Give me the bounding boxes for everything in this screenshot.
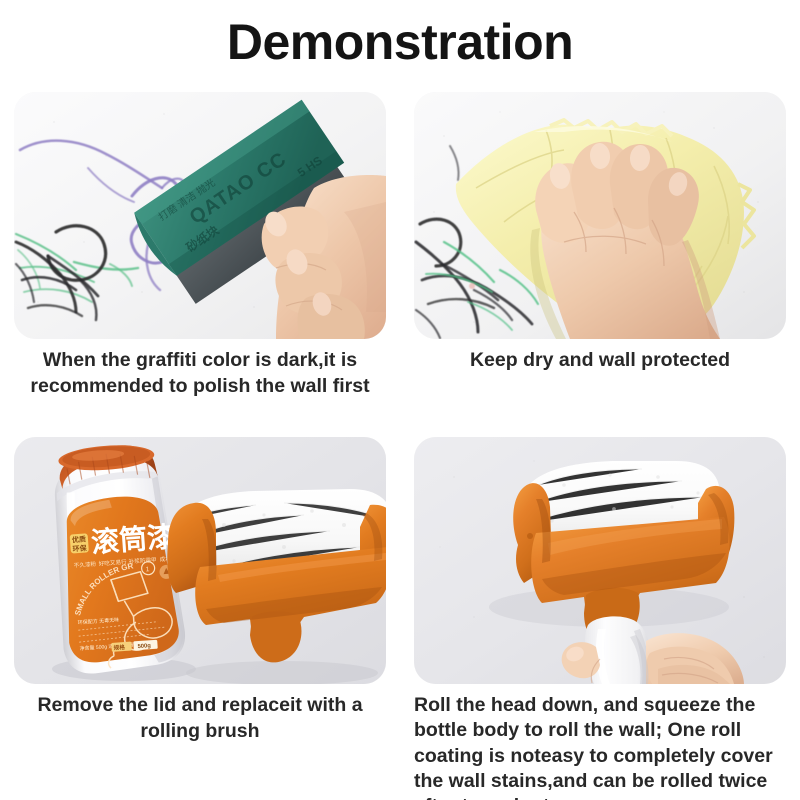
photo-paint-bottle-and-roller-head: 优质 环保 滚筒漆 不久漆粉 好吃又易行 补浆防霜甲 成本低倒省	[14, 437, 386, 684]
panel-roll-wall: Roll the head down, and squeeze the bott…	[400, 400, 800, 800]
page-title: Demonstration	[0, 0, 800, 67]
demonstration-grid: QATAO CC 5 HS 砂纸块 打磨 清洁 抛光	[0, 92, 800, 800]
panel-caption: Remove the lid and replaceit with a roll…	[14, 693, 386, 745]
panel-sand-wall: QATAO CC 5 HS 砂纸块 打磨 清洁 抛光	[0, 92, 400, 400]
svg-text:滚筒漆: 滚筒漆	[90, 520, 176, 558]
photo-wiping-wall-with-cloth	[414, 92, 786, 339]
photo-sanding-graffiti-wall: QATAO CC 5 HS 砂纸块 打磨 清洁 抛光	[14, 92, 386, 339]
panel-caption: When the graffiti color is dark,it is re…	[14, 348, 386, 400]
panel-bottle-roller: 优质 环保 滚筒漆 不久漆粉 好吃又易行 补浆防霜甲 成本低倒省	[0, 400, 400, 800]
panel-caption: Keep dry and wall protected	[414, 348, 786, 374]
panel-caption: Roll the head down, and squeeze the bott…	[414, 693, 786, 800]
svg-text:500g: 500g	[137, 643, 151, 650]
panel-wipe-wall: Keep dry and wall protected	[400, 92, 800, 400]
demonstration-page: Demonstration	[0, 0, 800, 800]
photo-rolling-wall-with-bottle	[414, 437, 786, 684]
